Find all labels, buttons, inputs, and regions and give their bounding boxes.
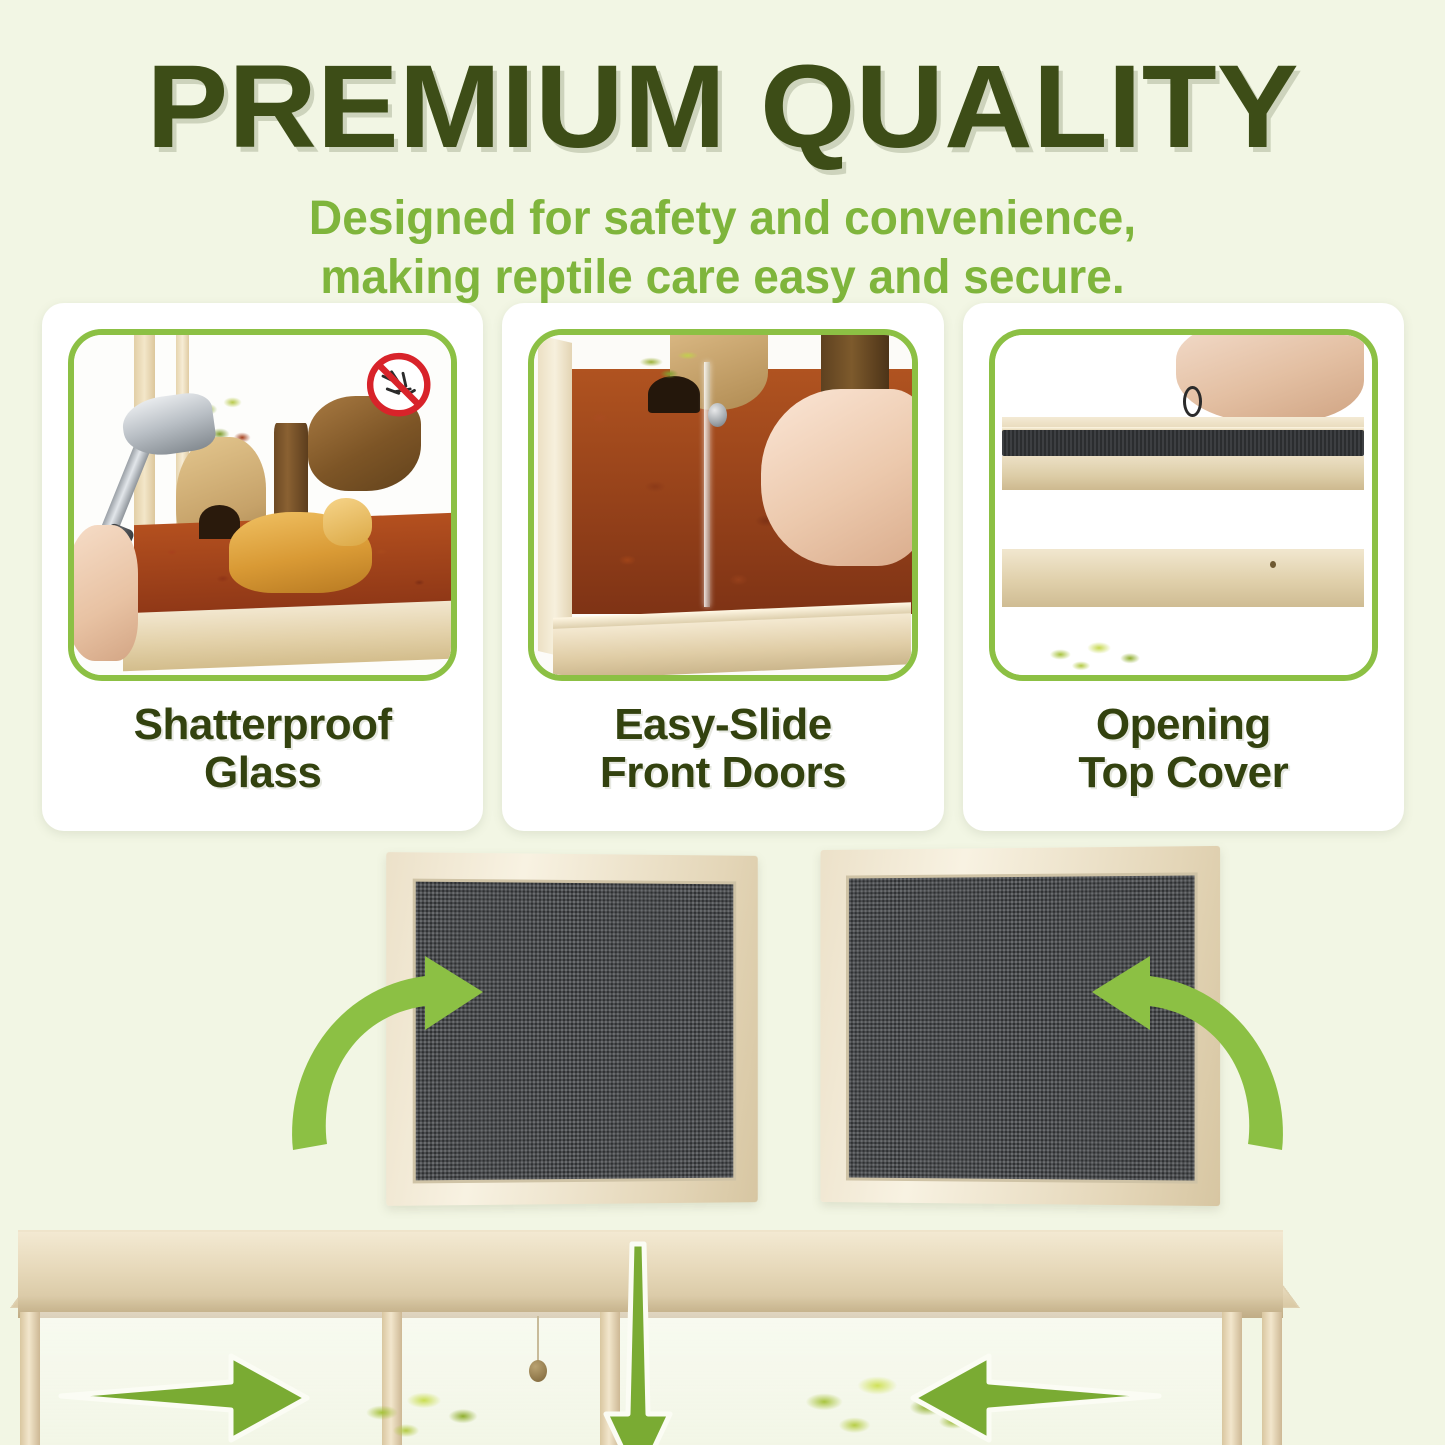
photo-shatterproof-glass <box>74 335 451 675</box>
page-subtitle: Designed for safety and convenience, mak… <box>29 190 1416 307</box>
feature-label-line-1: Opening <box>1096 700 1271 749</box>
feature-card-label: Shatterproof Glass <box>134 701 392 796</box>
arrow-pointing-left <box>905 1348 1165 1445</box>
feature-card-label: Opening Top Cover <box>1078 701 1288 796</box>
feature-photo-frame <box>989 329 1378 681</box>
feature-label-line-1: Easy-Slide <box>614 700 832 749</box>
arrow-curve-left <box>275 930 515 1160</box>
terrarium-corner-post <box>1222 1312 1242 1445</box>
feature-label-line-1: Shatterproof <box>134 700 392 749</box>
feature-photo-frame <box>528 329 917 681</box>
feature-photo-frame <box>68 329 457 681</box>
subtitle-line-1: Designed for safety and convenience, <box>309 192 1136 245</box>
arrow-pointing-right <box>55 1348 315 1445</box>
door-knob-icon <box>708 403 727 427</box>
feature-card-opening-top-cover: Opening Top Cover <box>963 303 1404 831</box>
feature-card-label: Easy-Slide Front Doors <box>600 701 846 796</box>
feature-card-shatterproof-glass: Shatterproof Glass <box>42 303 483 831</box>
arrow-pointing-down <box>588 1238 688 1445</box>
terrarium-corner-post <box>20 1312 40 1445</box>
subtitle-line-2: making reptile care easy and secure. <box>29 249 1416 308</box>
photo-opening-top-cover <box>995 335 1372 675</box>
feature-card-easy-slide-front-doors: Easy-Slide Front Doors <box>502 303 943 831</box>
product-scene <box>0 838 1445 1445</box>
terrarium-side-post <box>1262 1312 1282 1445</box>
feature-label-line-2: Front Doors <box>600 749 846 797</box>
pull-ring-icon <box>1183 386 1202 417</box>
feature-graphic-page: PREMIUM QUALITY Designed for safety and … <box>0 0 1445 1445</box>
feature-label-line-2: Top Cover <box>1078 749 1288 797</box>
feature-card-row: Shatterproof Glass <box>42 303 1404 831</box>
page-title: PREMIUM QUALITY <box>0 48 1445 166</box>
door-knob <box>529 1360 547 1382</box>
photo-easy-slide-front-doors <box>534 335 911 675</box>
no-crack-prohibition-icon <box>361 349 436 420</box>
arrow-curve-right <box>1060 930 1300 1160</box>
feature-label-line-2: Glass <box>134 749 392 797</box>
decor-plant <box>352 1373 502 1445</box>
